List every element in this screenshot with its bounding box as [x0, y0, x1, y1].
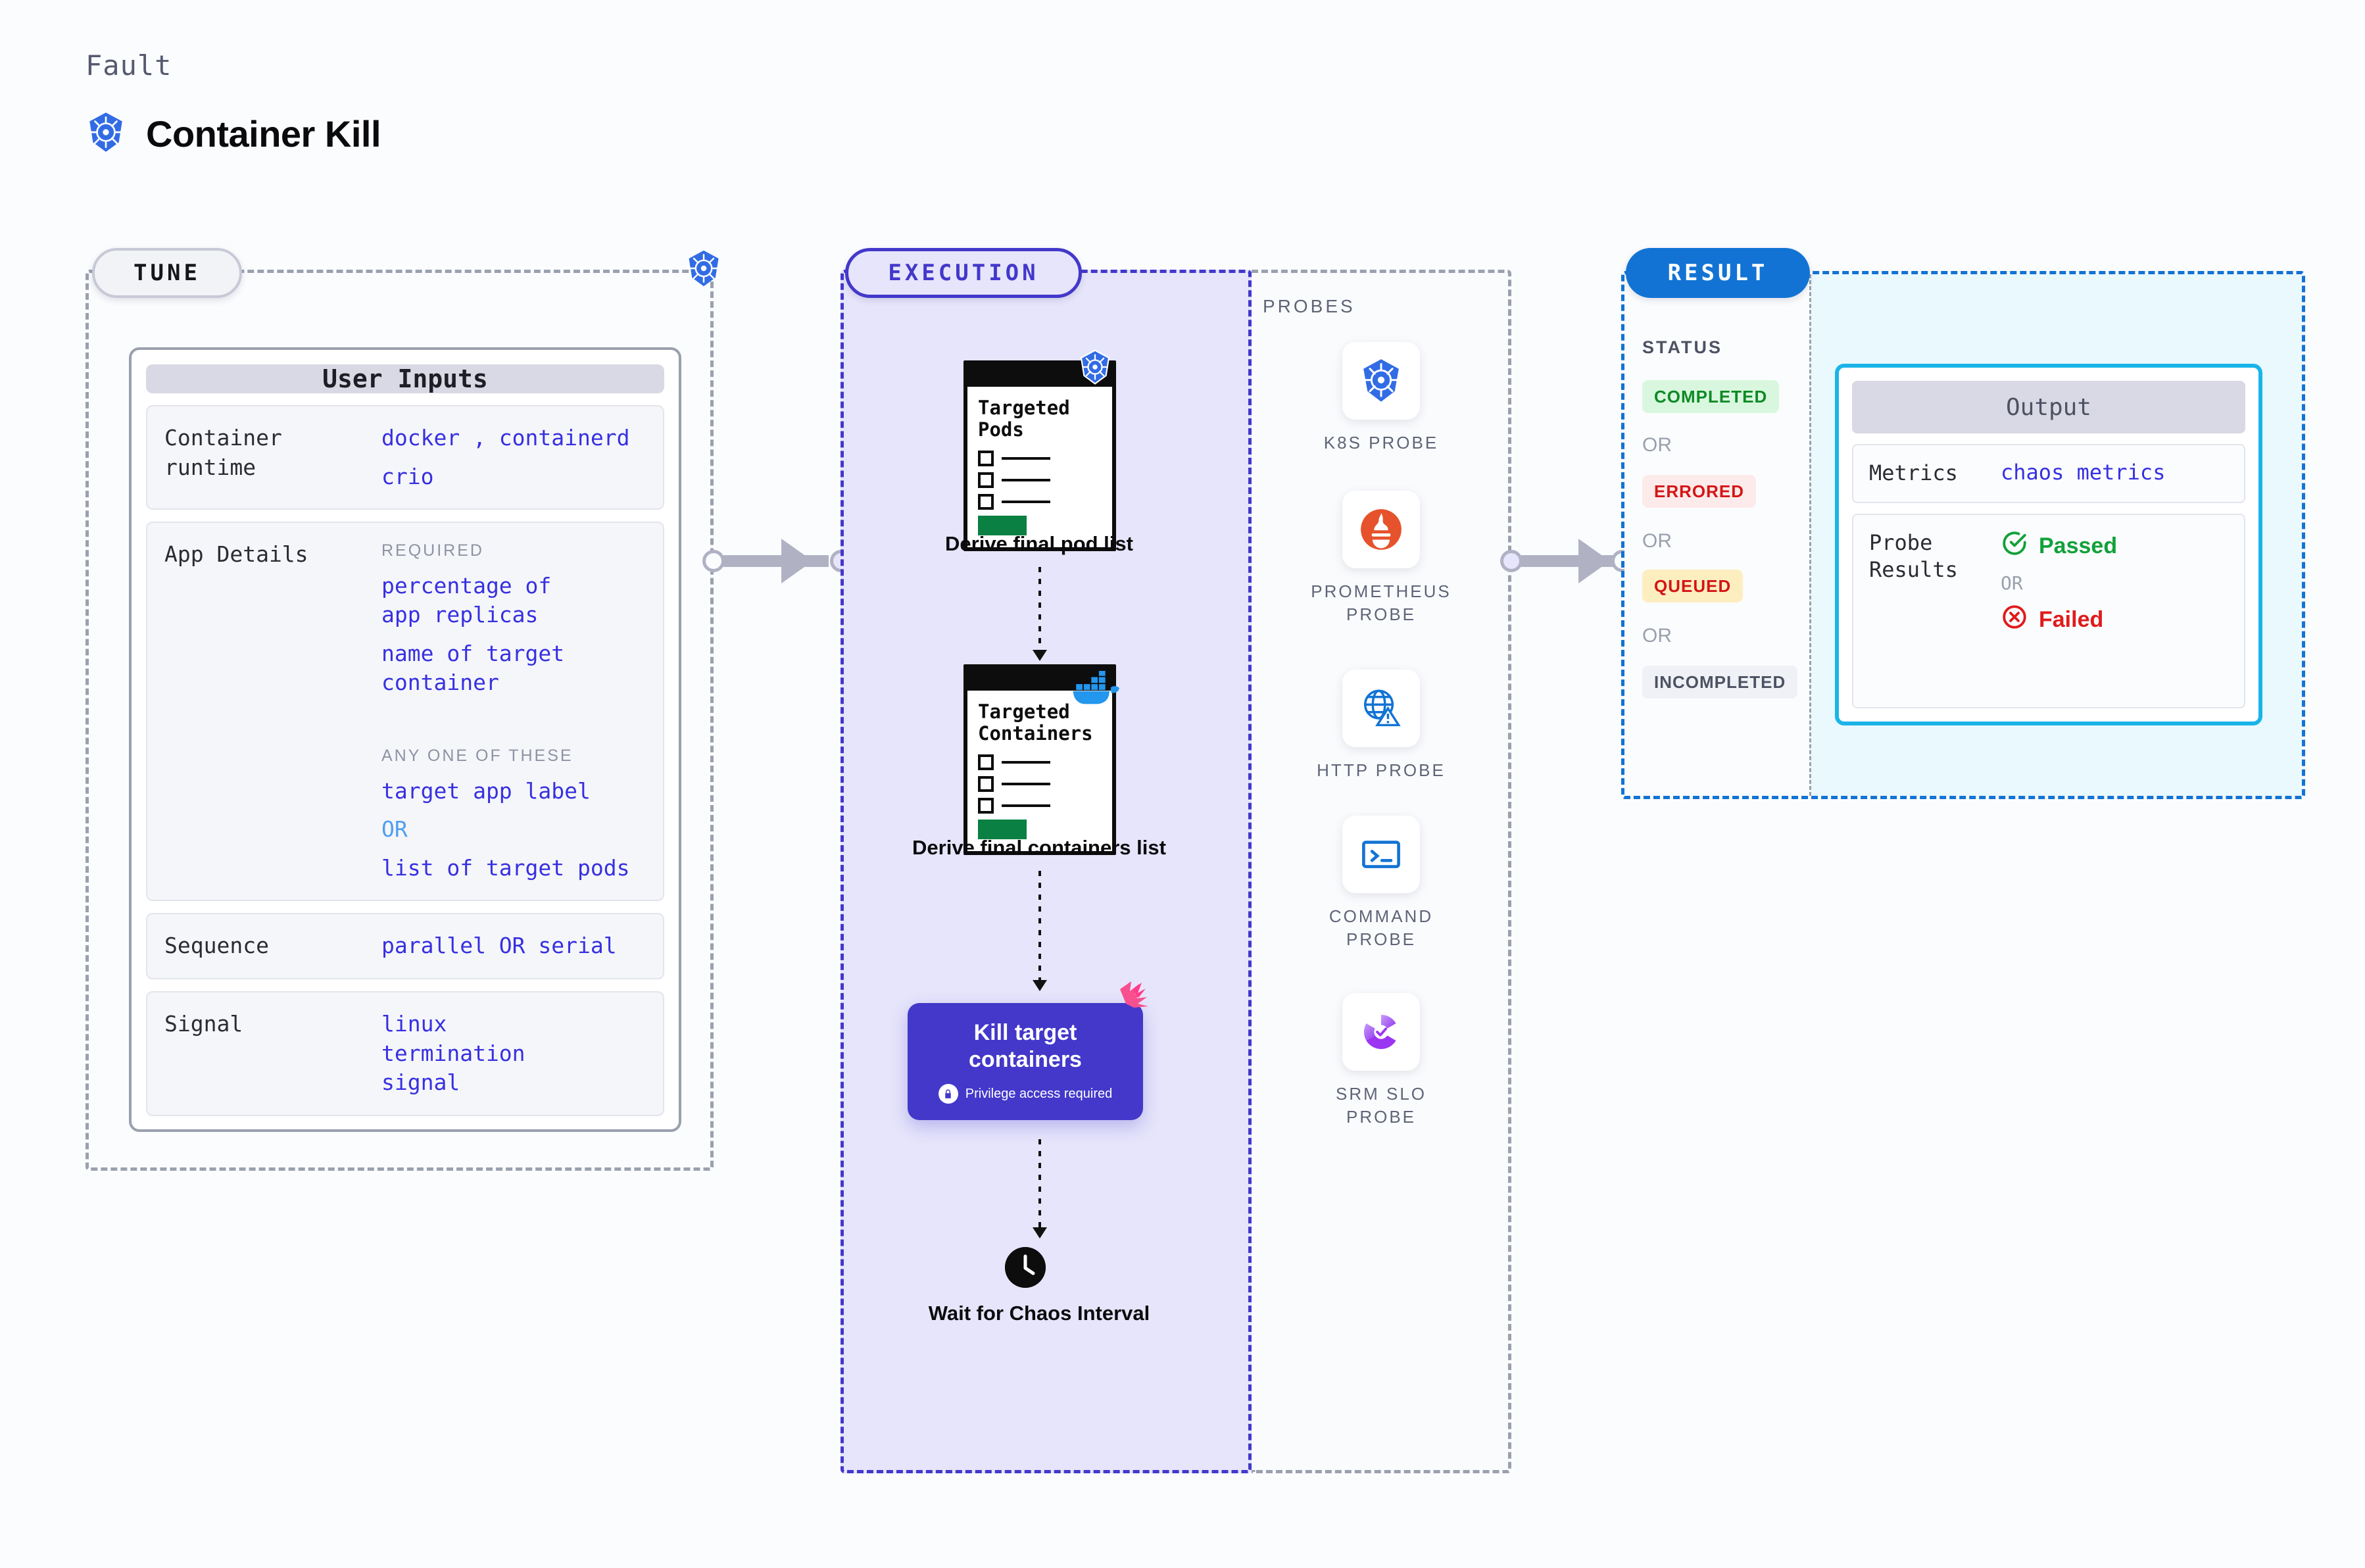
- placeholder-line: [1002, 783, 1050, 785]
- row-value: chaos metrics: [2001, 460, 2165, 487]
- row-app-details: App Details REQUIRED percentage of app r…: [146, 522, 664, 901]
- checkbox-icon: [978, 472, 994, 488]
- connector-line: [1521, 555, 1626, 567]
- row-key: ProbeResults: [1869, 529, 2001, 693]
- probe-http[interactable]: HTTP PROBE: [1310, 670, 1452, 782]
- value-percentage-replicas: percentage of app replicas: [381, 572, 579, 630]
- flow-connector: [1038, 567, 1041, 654]
- chaos-fault-diagram: Fault Container Kill TUNE: [0, 0, 2365, 1568]
- user-inputs-card: User Inputs Containerruntime docker , co…: [129, 347, 681, 1132]
- list-item: [978, 798, 1102, 814]
- checkbox-icon: [978, 451, 994, 466]
- globe-warning-icon: [1342, 670, 1420, 747]
- or-separator: OR: [1642, 434, 1672, 456]
- probe-prometheus[interactable]: PROMETHEUS PROBE: [1310, 491, 1452, 626]
- probes-title: PROBES: [1263, 296, 1355, 317]
- flow-arrow: [1033, 1227, 1047, 1238]
- caption-derive-pod-list: Derive final pod list: [908, 531, 1171, 557]
- placeholder-line: [1002, 501, 1050, 503]
- row-key: Signal: [164, 1010, 381, 1098]
- spacer: [381, 707, 630, 736]
- x-circle-icon: [2001, 603, 2028, 637]
- list-item: [978, 472, 1102, 488]
- srm-slo-gauge-icon: [1342, 993, 1420, 1071]
- probe-label: COMMAND PROBE: [1310, 905, 1452, 951]
- privilege-note: Privilege access required: [939, 1084, 1112, 1104]
- status-badge-queued: QUEUED: [1642, 570, 1743, 602]
- row-values: REQUIRED percentage of app replicas name…: [381, 540, 630, 883]
- probe-result-passed: Passed: [2001, 529, 2117, 563]
- litmus-icon: [1118, 980, 1151, 1014]
- kubernetes-icon: [84, 110, 128, 157]
- execution-pill-label[interactable]: EXECUTION: [845, 248, 1082, 298]
- placeholder-line: [1002, 761, 1050, 764]
- connector-line: [723, 555, 829, 567]
- placeholder-line: [1002, 457, 1050, 460]
- output-title: Output: [1852, 381, 2245, 433]
- flow-connector: [1038, 871, 1041, 984]
- kill-target-containers-step[interactable]: Kill targetcontainers Privilege access r…: [908, 1003, 1143, 1120]
- value-or: OR: [381, 815, 630, 845]
- passed-label: Passed: [2039, 533, 2117, 559]
- checkbox-icon: [978, 776, 994, 792]
- connector-arrow: [1578, 539, 1610, 583]
- probe-command[interactable]: COMMAND PROBE: [1310, 816, 1452, 951]
- required-label: REQUIRED: [381, 540, 630, 562]
- kubernetes-icon: [1342, 342, 1420, 420]
- tune-pill-label[interactable]: TUNE: [92, 248, 242, 298]
- kubernetes-icon: [1077, 349, 1113, 389]
- check-circle-icon: [2001, 529, 2028, 563]
- checkbox-icon: [978, 494, 994, 510]
- kill-step-title: Kill targetcontainers: [969, 1019, 1082, 1073]
- flow-arrow: [1033, 650, 1047, 661]
- connector-arrow: [781, 539, 813, 583]
- status-badge-errored: ERRORED: [1642, 475, 1756, 508]
- probe-label: PROMETHEUS PROBE: [1310, 580, 1452, 626]
- value-crio: crio: [381, 462, 630, 492]
- targeted-pods-title: TargetedPods: [978, 397, 1102, 441]
- result-pill-label[interactable]: RESULT: [1626, 248, 1810, 298]
- targeted-pods-card: TargetedPods: [963, 360, 1116, 551]
- kubernetes-icon: [684, 249, 723, 291]
- docker-icon: [1072, 671, 1125, 712]
- terminal-icon: [1342, 816, 1420, 893]
- value-signal: linux termination signal: [381, 1010, 579, 1098]
- status-title: STATUS: [1642, 337, 1722, 358]
- row-key: App Details: [164, 540, 381, 883]
- row-key: Containerruntime: [164, 424, 381, 491]
- card-body: TargetedContainers: [967, 691, 1112, 851]
- row-sequence: Sequence parallel OR serial: [146, 913, 664, 979]
- value-target-container-name: name of target container: [381, 639, 579, 698]
- any-one-label: ANY ONE OF THESE: [381, 745, 630, 768]
- placeholder-line: [1002, 479, 1050, 481]
- row-metrics: Metrics chaos metrics: [1852, 444, 2245, 503]
- probe-srm-slo[interactable]: SRM SLO PROBE: [1310, 993, 1452, 1129]
- value-target-app-label: target app label: [381, 777, 630, 806]
- probe-result-failed: Failed: [2001, 603, 2117, 637]
- value-docker-containerd: docker , containerd: [381, 424, 630, 453]
- placeholder-line: [1002, 804, 1050, 807]
- row-key: Sequence: [164, 931, 381, 961]
- list-item: [978, 451, 1102, 466]
- failed-label: Failed: [2039, 607, 2103, 633]
- row-probe-results: ProbeResults Passed OR: [1852, 514, 2245, 708]
- row-key: Metrics: [1869, 460, 2001, 487]
- output-card: Output Metrics chaos metrics ProbeResult…: [1835, 364, 2262, 725]
- status-badge-completed: COMPLETED: [1642, 380, 1779, 413]
- status-badge-incompleted: INCOMPLETED: [1642, 666, 1797, 698]
- user-inputs-title: User Inputs: [146, 364, 664, 393]
- list-item: [978, 494, 1102, 510]
- list-item: [978, 776, 1102, 792]
- row-values: docker , containerd crio: [381, 424, 630, 491]
- probe-label: HTTP PROBE: [1310, 759, 1452, 782]
- or-separator: OR: [1642, 625, 1672, 647]
- value-list-target-pods: list of target pods: [381, 854, 630, 883]
- probe-k8s[interactable]: K8S PROBE: [1310, 342, 1452, 454]
- or-separator: OR: [2001, 572, 2117, 594]
- checkbox-icon: [978, 754, 994, 770]
- or-separator: OR: [1642, 530, 1672, 552]
- flow-arrow: [1033, 980, 1047, 991]
- caption-wait-chaos-interval: Wait for Chaos Interval: [921, 1301, 1158, 1327]
- connector-node-left: [1500, 550, 1523, 572]
- checkbox-icon: [978, 798, 994, 814]
- probe-label: SRM SLO PROBE: [1310, 1083, 1452, 1129]
- lock-icon: [939, 1084, 958, 1104]
- list-item: [978, 754, 1102, 770]
- row-signal: Signal linux termination signal: [146, 991, 664, 1116]
- privilege-note-text: Privilege access required: [965, 1087, 1112, 1102]
- value-sequence: parallel OR serial: [381, 931, 617, 961]
- flow-connector: [1038, 1139, 1041, 1231]
- prometheus-icon: [1342, 491, 1420, 568]
- card-body: TargetedPods: [967, 387, 1112, 547]
- fault-kicker: Fault: [85, 49, 172, 82]
- row-values: parallel OR serial: [381, 931, 617, 961]
- probe-result-values: Passed OR Failed: [2001, 529, 2117, 693]
- row-values: linux termination signal: [381, 1010, 579, 1098]
- probe-label: K8S PROBE: [1310, 431, 1452, 454]
- caption-derive-containers-list: Derive final containers list: [875, 835, 1204, 861]
- row-container-runtime: Containerruntime docker , containerd cri…: [146, 405, 664, 510]
- connector-node-left: [702, 550, 725, 572]
- page-title-row: Container Kill: [84, 110, 381, 157]
- page-title: Container Kill: [146, 112, 381, 155]
- clock-icon: [1005, 1247, 1046, 1288]
